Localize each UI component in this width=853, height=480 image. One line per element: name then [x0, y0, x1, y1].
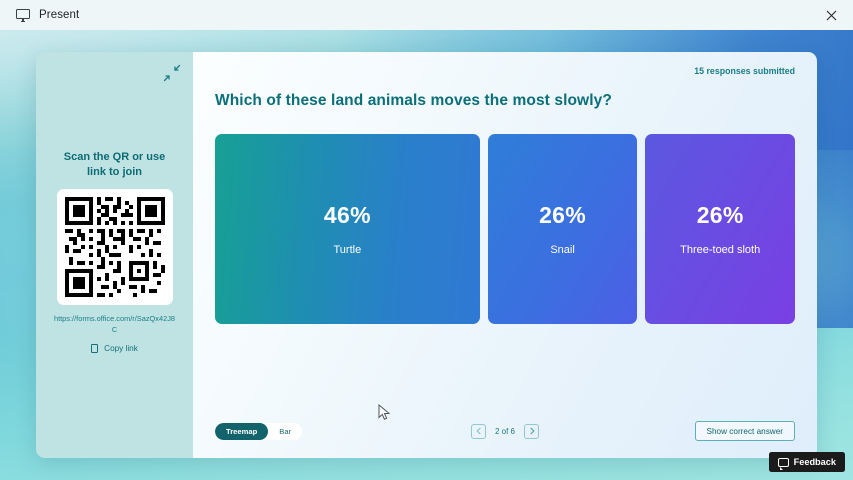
- close-icon[interactable]: [809, 0, 853, 30]
- monitor-icon: [16, 9, 30, 22]
- join-heading: Scan the QR or use link to join: [55, 150, 175, 179]
- tile-label: Snail: [550, 244, 574, 256]
- present-app-card: Scan the QR or use link to join: [36, 52, 817, 458]
- results-bottom-bar: Treemap Bar 2 of 6 Show correct answer: [193, 404, 817, 458]
- tile-label: Three-toed sloth: [680, 244, 760, 256]
- window-title: Present: [39, 9, 79, 21]
- tile-label: Turtle: [334, 244, 362, 256]
- join-panel: Scan the QR or use link to join: [36, 52, 193, 458]
- tile-percent: 46%: [324, 202, 371, 229]
- copy-link-label: Copy link: [104, 344, 138, 353]
- chart-view-toggle[interactable]: Treemap Bar: [215, 423, 302, 440]
- copy-link-button[interactable]: Copy link: [91, 344, 138, 354]
- tile-percent: 26%: [697, 202, 744, 229]
- show-correct-answer-label: Show correct answer: [707, 427, 783, 436]
- feedback-button[interactable]: Feedback: [769, 452, 845, 472]
- chevron-right-icon[interactable]: [524, 424, 539, 439]
- copy-icon: [91, 344, 99, 354]
- tab-bar[interactable]: Bar: [268, 423, 302, 440]
- speech-bubble-icon: [778, 458, 789, 467]
- pagination: 2 of 6: [471, 424, 539, 439]
- title-bar-left: Present: [0, 9, 79, 22]
- results-panel: 15 responses submitted Which of these la…: [193, 52, 817, 458]
- window-title-bar: Present: [0, 0, 853, 30]
- treemap-chart: 46% Turtle 26% Snail 26% Three-toed slot…: [215, 134, 795, 324]
- chevron-left-icon[interactable]: [471, 424, 486, 439]
- treemap-tile[interactable]: 46% Turtle: [215, 134, 480, 324]
- join-url[interactable]: https://forms.office.com/r/SazQx42J8C: [53, 314, 177, 335]
- collapse-icon[interactable]: [163, 64, 181, 82]
- feedback-label: Feedback: [794, 457, 836, 467]
- mouse-cursor: [378, 404, 392, 422]
- tile-percent: 26%: [539, 202, 586, 229]
- question-title: Which of these land animals moves the mo…: [215, 92, 817, 110]
- responses-submitted-label: 15 responses submitted: [694, 66, 795, 76]
- treemap-tile[interactable]: 26% Three-toed sloth: [645, 134, 795, 324]
- tab-treemap[interactable]: Treemap: [215, 423, 268, 440]
- treemap-tile[interactable]: 26% Snail: [488, 134, 638, 324]
- qr-code: [57, 189, 173, 305]
- show-correct-answer-button[interactable]: Show correct answer: [695, 421, 795, 441]
- pagination-label: 2 of 6: [495, 427, 515, 436]
